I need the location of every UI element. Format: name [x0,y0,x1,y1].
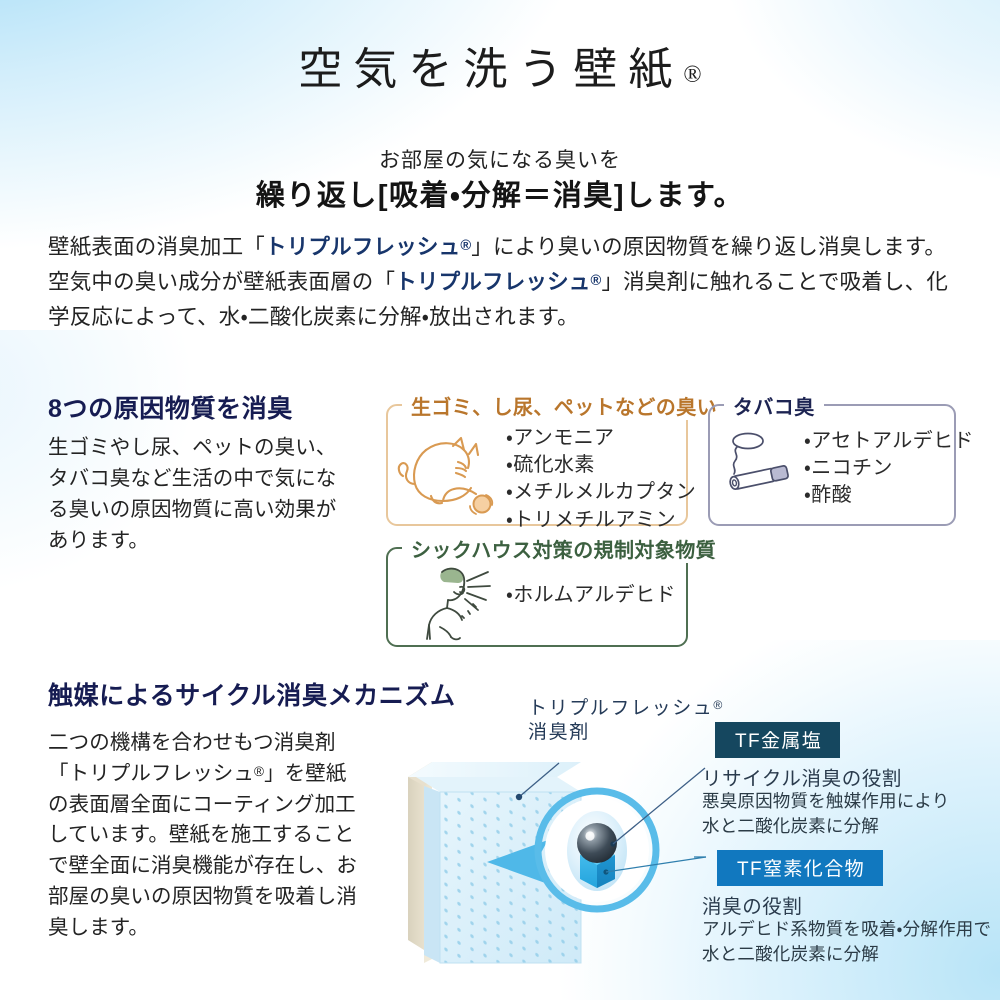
tf-agent-label-line1: トリプルフレッシュ [528,698,713,719]
desc-tf-metal-salt: 悪臭原因物質を触媒作用により 水と二酸化炭素に分解 [702,789,949,839]
badge-tf-nitrogen-compound: TF窒素化合物 [717,850,883,886]
desc-line: アルデヒド系物質を吸着・分解作用で [702,917,991,942]
infographic-page: 空気を洗う壁紙® お部屋の気になる臭いを 繰り返し[吸着・分解＝消臭]します。 … [0,0,1000,1000]
role-tf-metal-salt: リサイクル消臭の役割 [702,762,902,791]
desc-line: 水と二酸化炭素に分解 [702,942,991,967]
desc-line: 悪臭原因物質を触媒作用により [702,789,949,814]
badge-tf-metal-salt: TF金属塩 [715,722,840,758]
role-tf-nitrogen-compound: 消臭の役割 [702,890,803,919]
registered-mark-icon: ® [713,698,722,712]
desc-tf-nitrogen-compound: アルデヒド系物質を吸着・分解作用で 水と二酸化炭素に分解 [702,917,991,967]
desc-line: 水と二酸化炭素に分解 [702,814,949,839]
tf-agent-label-line2: 消臭剤 [528,722,590,743]
tf-agent-label: トリプルフレッシュ® 消臭剤 [528,697,722,746]
